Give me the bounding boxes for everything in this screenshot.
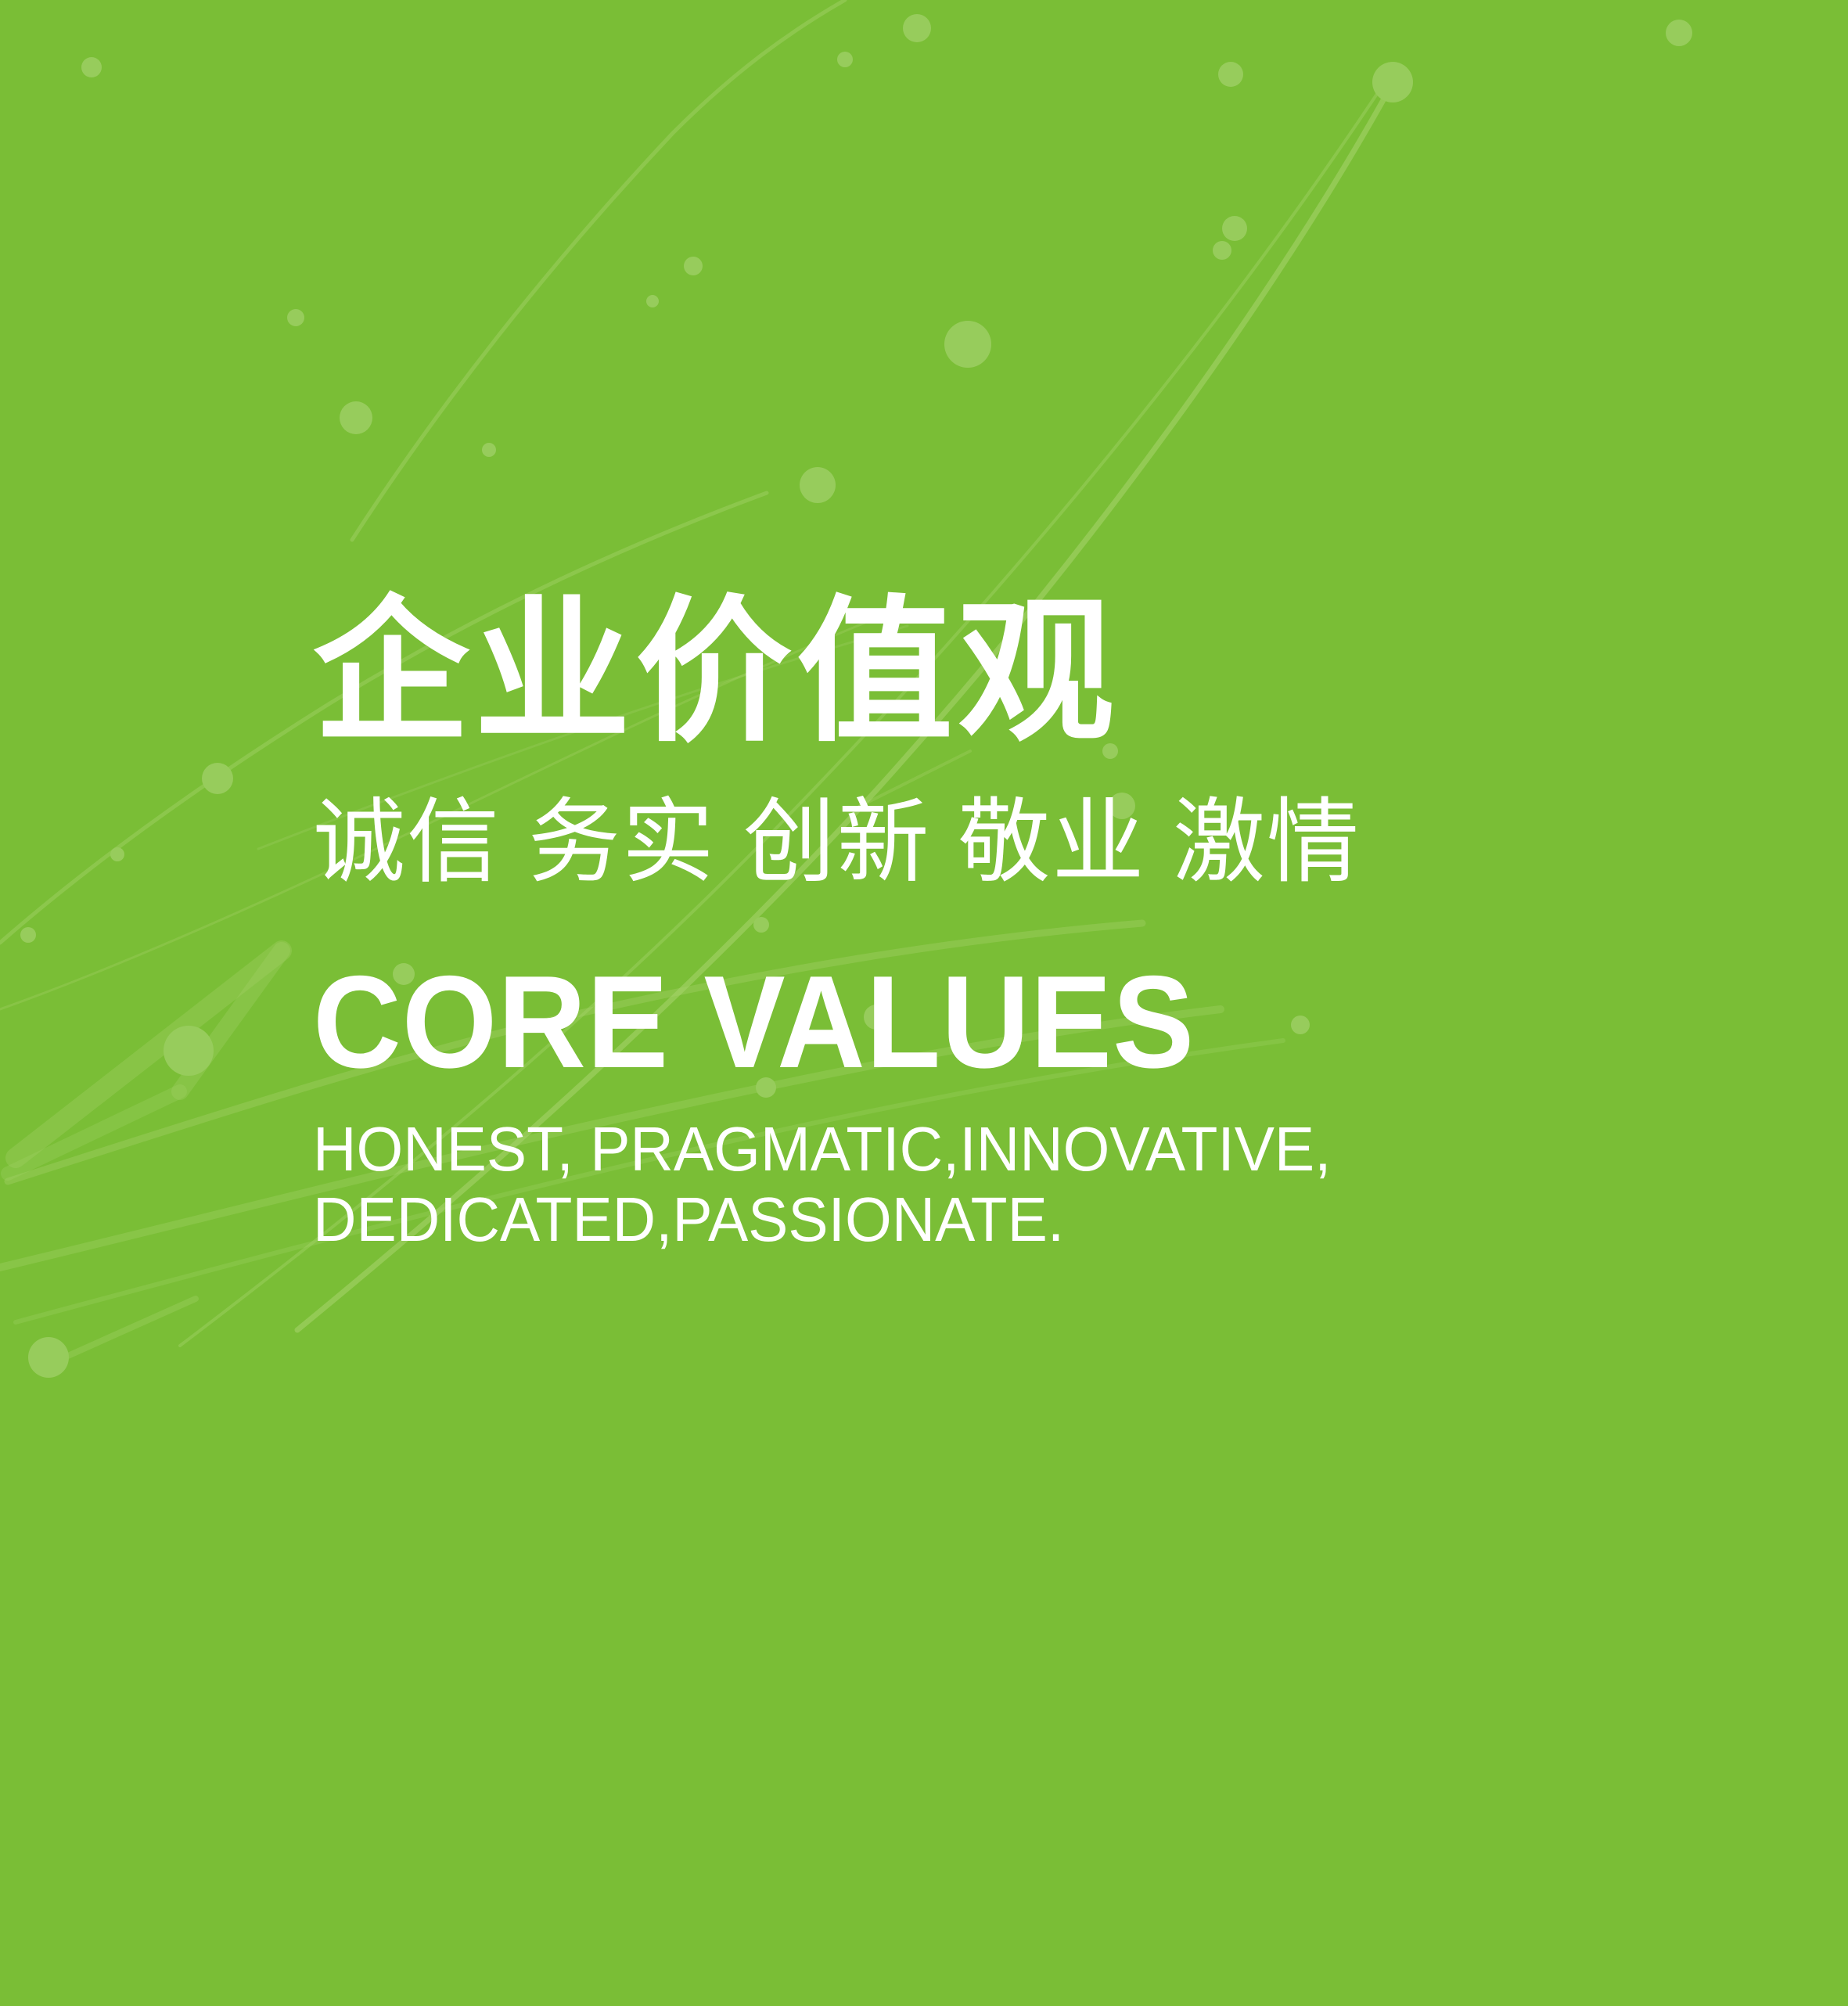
decor-node-3 (1218, 62, 1243, 87)
decor-node-10 (944, 321, 991, 368)
decor-node-8 (684, 257, 703, 275)
page-title-en: CORE VALUES (313, 889, 1550, 1087)
decor-node-13 (1222, 216, 1247, 241)
core-values-poster: 企业价值观 诚信 务实 创新 敬业 激情 CORE VALUES HONEST,… (0, 0, 1848, 2006)
decor-node-4 (1666, 20, 1692, 46)
subtitle-cn-values: 诚信 务实 创新 敬业 激情 (313, 751, 1643, 889)
decor-thick-segment-a (16, 951, 282, 1158)
decor-node-27 (837, 52, 853, 67)
decor-node-6 (287, 309, 304, 326)
decor-thick-segment-c (8, 1091, 180, 1174)
decor-node-20 (164, 1026, 214, 1076)
decor-node-11 (800, 467, 836, 503)
decor-node-2 (903, 14, 931, 42)
subtitle-en-line-2: DEDICATED,PASSIONATE. (313, 1185, 1590, 1255)
decor-node-24 (20, 927, 36, 943)
page-title-cn: 企业价值观 (313, 595, 1643, 751)
decor-segment-bottom-left (47, 1299, 196, 1365)
decor-node-22 (28, 1337, 69, 1378)
subtitle-en-line-1: HONEST, PRAGMATIC,INNOVATIVE, (313, 1114, 1590, 1185)
poster-content: 企业价值观 诚信 务实 创新 敬业 激情 CORE VALUES HONEST,… (313, 595, 1643, 1254)
decor-node-25 (110, 847, 124, 861)
subtitle-en-values: HONEST, PRAGMATIC,INNOVATIVE, DEDICATED,… (313, 1087, 1590, 1254)
decor-node-26 (482, 443, 496, 457)
decor-node-5 (81, 57, 102, 77)
decor-thick-segment-b (180, 951, 282, 1091)
decor-curve-top-left (352, 0, 845, 540)
decor-node-12 (202, 763, 233, 794)
decor-node-7 (340, 401, 372, 434)
decor-node-14 (1213, 241, 1231, 260)
decor-node-1 (1372, 62, 1413, 102)
decor-node-9 (646, 295, 659, 307)
